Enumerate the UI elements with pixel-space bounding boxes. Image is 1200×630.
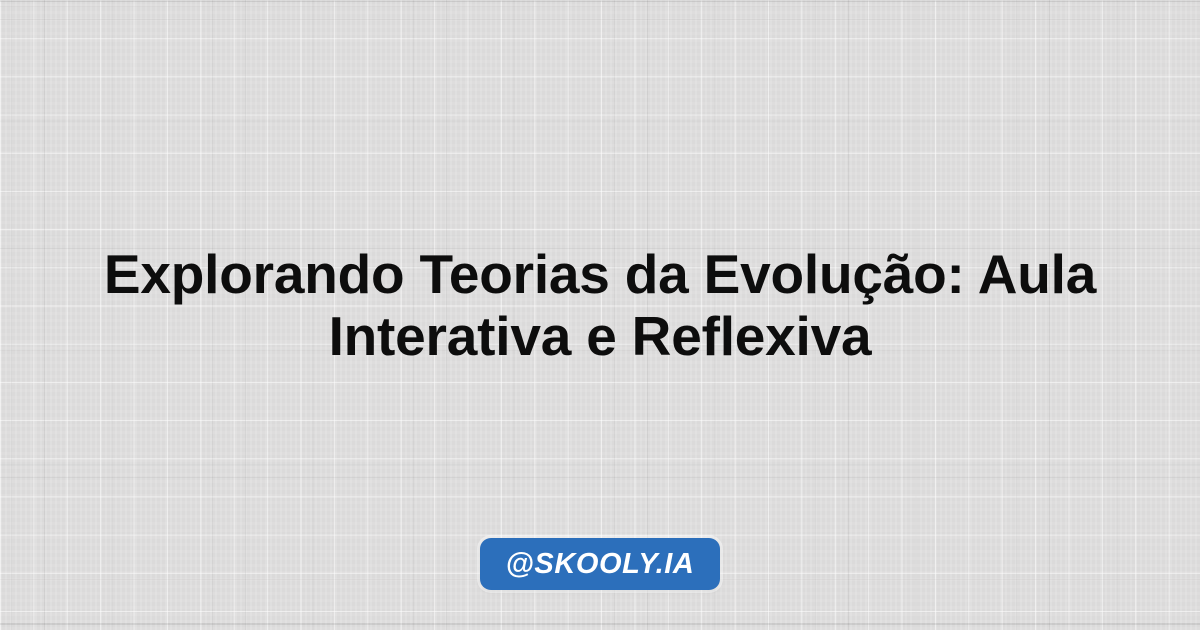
badge-row: @SKOOLY.IA <box>0 538 1200 590</box>
handle-badge[interactable]: @SKOOLY.IA <box>480 538 721 590</box>
handle-badge-label: @SKOOLY.IA <box>506 550 695 579</box>
title-block: Explorando Teorias da Evolução: Aula Int… <box>0 243 1200 367</box>
og-image-canvas: Explorando Teorias da Evolução: Aula Int… <box>0 0 1200 630</box>
page-title: Explorando Teorias da Evolução: Aula Int… <box>26 243 1174 367</box>
content-stack: Explorando Teorias da Evolução: Aula Int… <box>0 0 1200 630</box>
